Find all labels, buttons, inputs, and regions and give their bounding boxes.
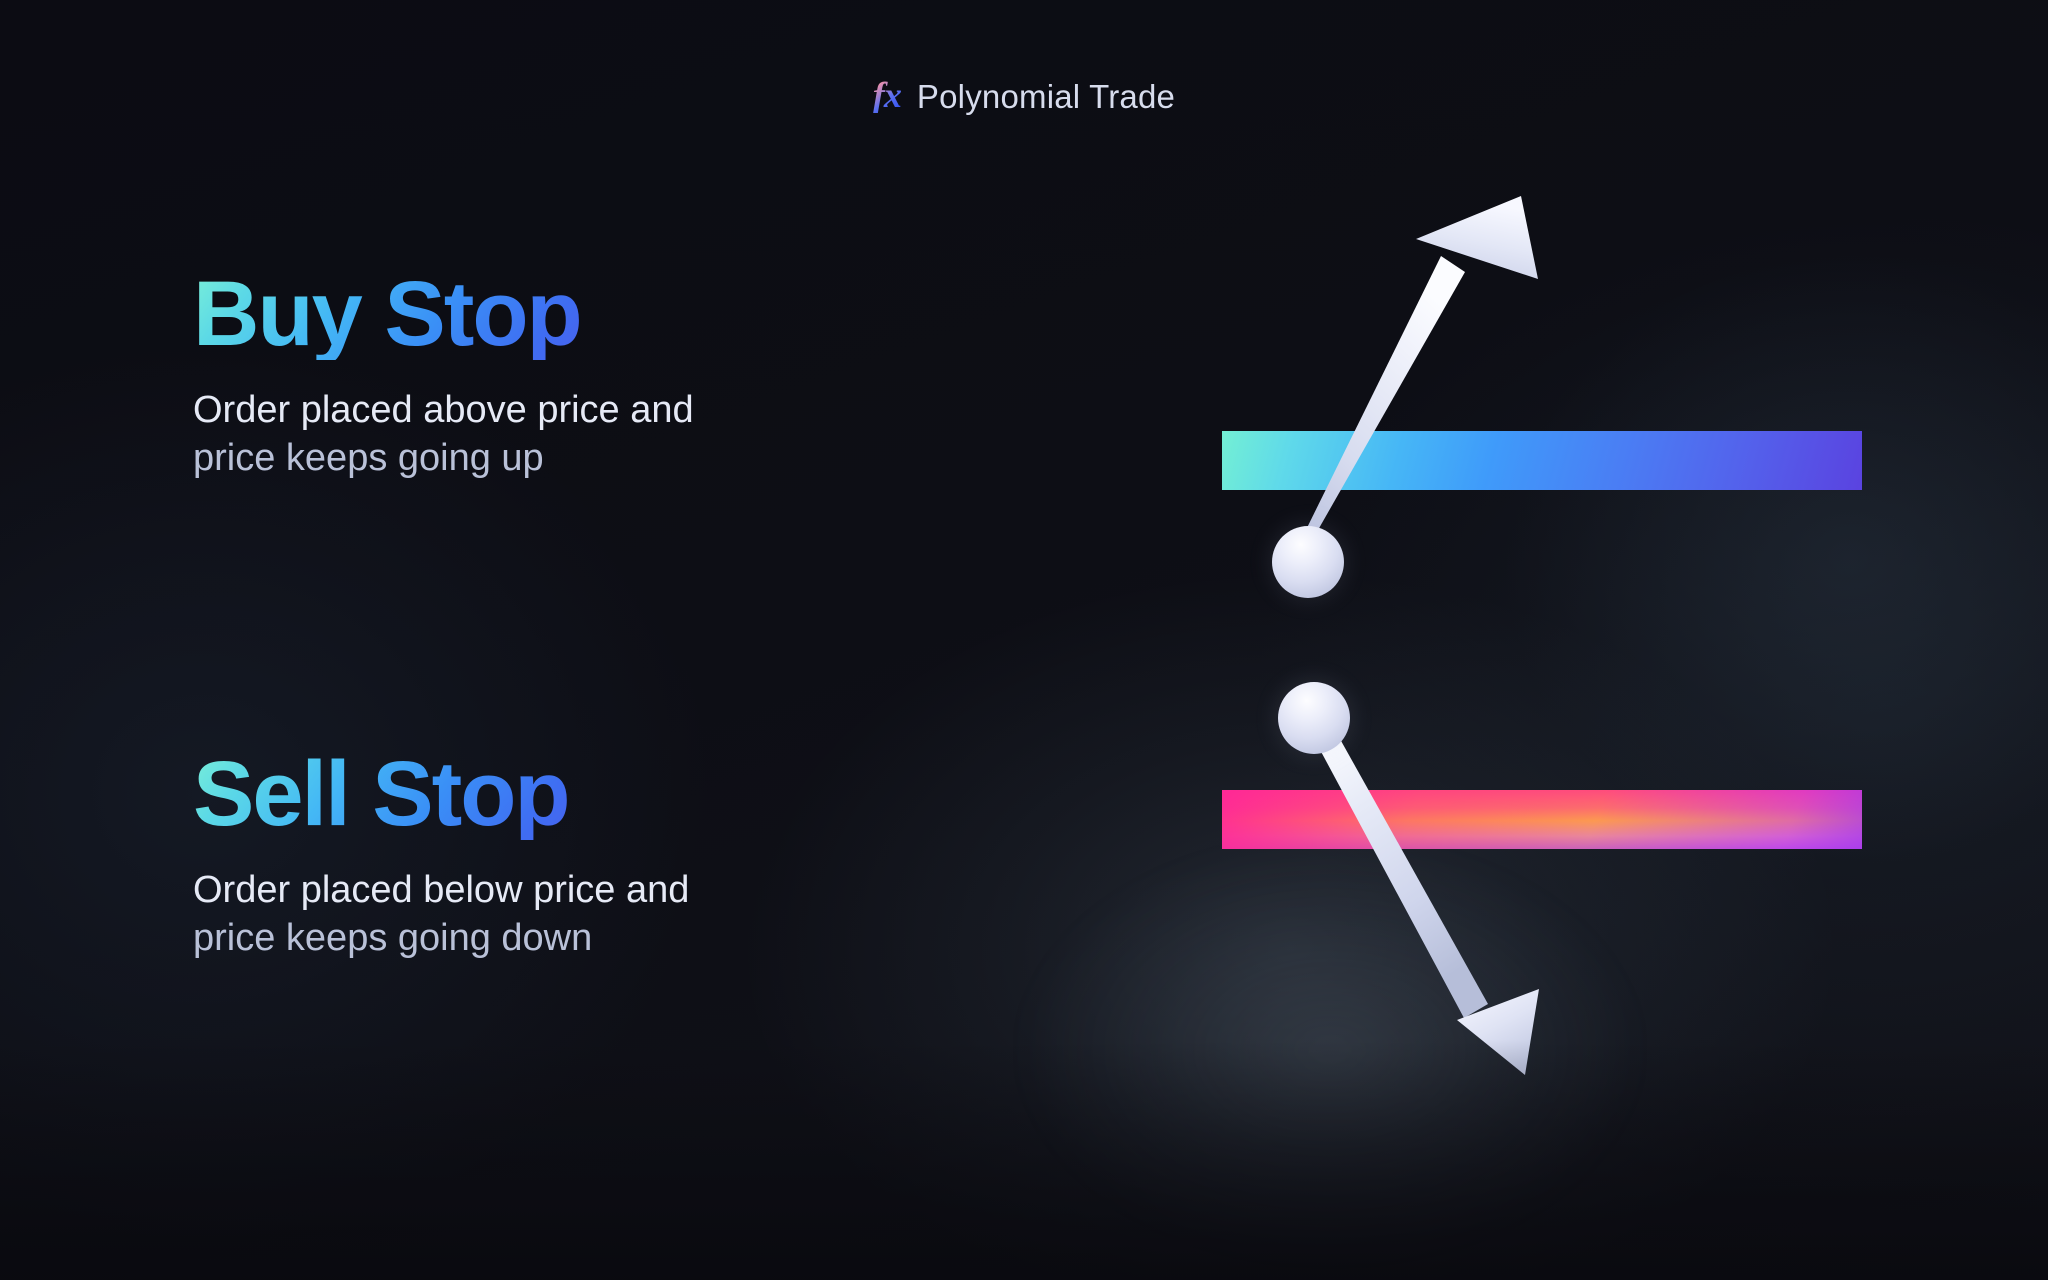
buy-stop-heading: Buy Stop: [193, 268, 694, 360]
fx-logo-icon: fx: [873, 77, 901, 113]
sell-stop-description-line-1: Order placed below price and: [193, 866, 689, 914]
buy-stop-description-line-2: price keeps going up: [193, 434, 694, 482]
buy-stop-description-line-1: Order placed above price and: [193, 386, 694, 434]
sell-stop-copy-block: Sell Stop Order placed below price and p…: [193, 748, 689, 963]
buy-stop-price-marker: [1272, 526, 1344, 598]
buy-stop-copy-block: Buy Stop Order placed above price and pr…: [193, 268, 694, 483]
sell-stop-description: Order placed below price and price keeps…: [193, 866, 689, 963]
brand-name: Polynomial Trade: [917, 78, 1175, 116]
slide-background: [0, 0, 2048, 1280]
sell-stop-heading: Sell Stop: [193, 748, 689, 840]
sell-stop-price-marker: [1278, 682, 1350, 754]
buy-stop-price-level-bar: [1222, 431, 1862, 490]
sell-stop-description-line-2: price keeps going down: [193, 914, 689, 962]
brand-lockup: fx Polynomial Trade: [0, 78, 2048, 116]
center-glow: [1020, 840, 1640, 1260]
right-glow: [1500, 250, 2048, 870]
buy-stop-description: Order placed above price and price keeps…: [193, 386, 694, 483]
sell-stop-price-level-bar: [1222, 790, 1862, 849]
